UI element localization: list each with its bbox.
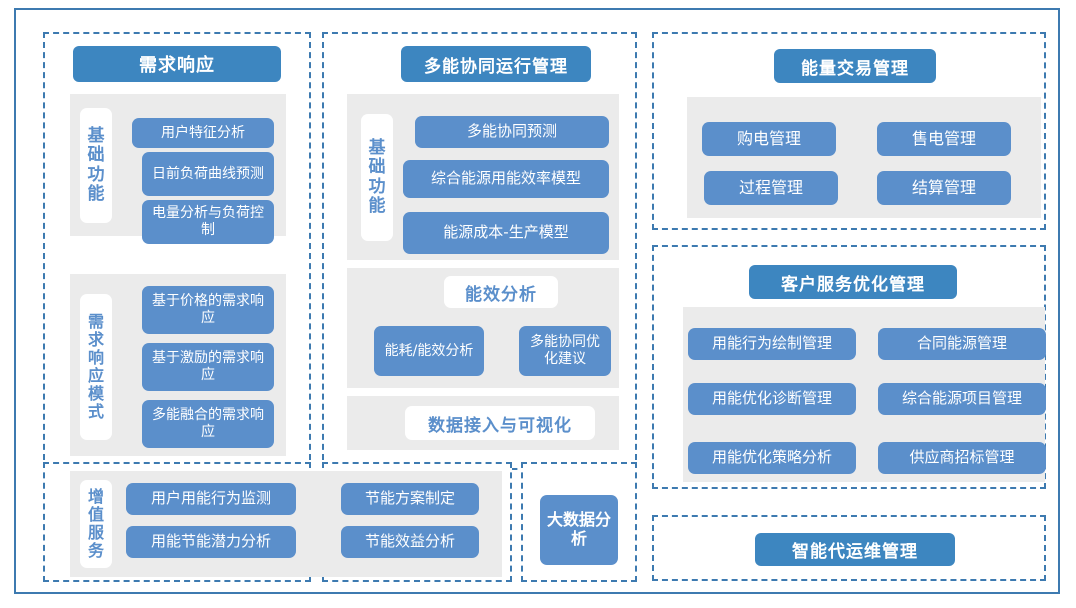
item-settlement-management[interactable]: 结算管理: [877, 171, 1011, 205]
label-value-added-services-text: 增值服务: [88, 488, 104, 560]
header-demand-response[interactable]: 需求响应: [73, 46, 281, 82]
item-supplier-bidding-management[interactable]: 供应商招标管理: [878, 442, 1046, 474]
label-efficiency-analysis: 能效分析: [444, 276, 558, 308]
item-energy-optimization-diagnosis-management[interactable]: 用能优化诊断管理: [688, 383, 856, 415]
item-process-management[interactable]: 过程管理: [704, 171, 838, 205]
item-contract-energy-management[interactable]: 合同能源管理: [878, 328, 1046, 360]
item-incentive-based-dr[interactable]: 基于激励的需求响应: [142, 343, 274, 391]
item-multi-energy-forecast[interactable]: 多能协同预测: [415, 116, 609, 148]
item-big-data-analysis[interactable]: 大数据分析: [540, 495, 618, 565]
item-energy-behavior-mapping-management[interactable]: 用能行为绘制管理: [688, 328, 856, 360]
label-dr-response-modes-text: 需求响应模式: [88, 313, 104, 420]
item-power-purchase-management[interactable]: 购电管理: [702, 122, 836, 156]
label-dr-basic-functions: 基础功能: [80, 108, 112, 223]
label-dr-response-modes: 需求响应模式: [80, 294, 112, 440]
item-energy-cost-production-model[interactable]: 能源成本-生产模型: [403, 212, 609, 254]
label-dr-basic-functions-text: 基础功能: [88, 127, 105, 203]
item-user-energy-behavior-monitoring[interactable]: 用户用能行为监测: [126, 483, 296, 515]
item-power-sales-management[interactable]: 售电管理: [877, 122, 1011, 156]
item-energy-consumption-efficiency-analysis[interactable]: 能耗/能效分析: [374, 326, 484, 376]
item-multi-energy-fusion-dr[interactable]: 多能融合的需求响应: [142, 400, 274, 448]
item-multi-energy-optimization-suggestion[interactable]: 多能协同优化建议: [519, 326, 611, 376]
header-smart-ops[interactable]: 智能代运维管理: [755, 533, 955, 566]
header-multi-energy[interactable]: 多能协同运行管理: [401, 46, 591, 82]
item-day-ahead-load-forecast[interactable]: 日前负荷曲线预测: [142, 152, 274, 196]
item-power-analysis-load-control[interactable]: 电量分析与负荷控制: [142, 200, 274, 244]
header-energy-trading[interactable]: 能量交易管理: [774, 49, 936, 83]
item-energy-saving-plan-development[interactable]: 节能方案制定: [341, 483, 479, 515]
label-value-added-services: 增值服务: [80, 480, 112, 568]
diagram-frame: 需求响应 基础功能 用户特征分析 日前负荷曲线预测 电量分析与负荷控制 需求响应…: [14, 8, 1060, 594]
header-customer-service[interactable]: 客户服务优化管理: [749, 265, 957, 299]
item-energy-optimization-strategy-analysis[interactable]: 用能优化策略分析: [688, 442, 856, 474]
item-price-based-dr[interactable]: 基于价格的需求响应: [142, 286, 274, 334]
item-integrated-energy-efficiency-model[interactable]: 综合能源用能效率模型: [403, 160, 609, 198]
label-me-basic-functions-text: 基础功能: [369, 139, 386, 215]
item-user-feature-analysis[interactable]: 用户特征分析: [132, 118, 274, 148]
label-me-basic-functions: 基础功能: [361, 114, 393, 241]
item-energy-saving-benefit-analysis[interactable]: 节能效益分析: [341, 526, 479, 558]
item-energy-saving-potential-analysis[interactable]: 用能节能潜力分析: [126, 526, 296, 558]
item-integrated-energy-project-management[interactable]: 综合能源项目管理: [878, 383, 1046, 415]
label-data-access-visualization: 数据接入与可视化: [405, 406, 595, 440]
